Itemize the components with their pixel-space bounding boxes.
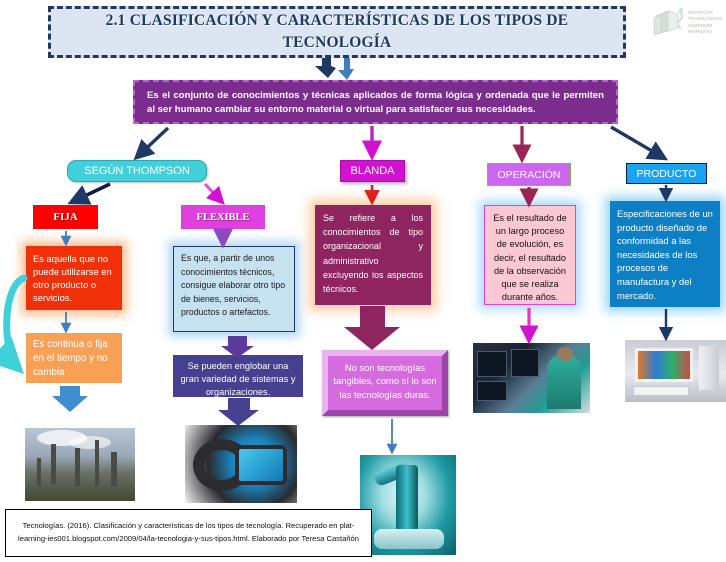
connector-englobar-block-arrow — [218, 398, 259, 426]
connector-cyan-curve — [7, 278, 24, 368]
box-flexible-description: Es que, a partir de unos conocimientos t… — [173, 246, 295, 332]
hospital-control-room-photo — [473, 343, 590, 413]
microscope-photo — [360, 455, 456, 555]
logo-text: INSTITUTOTECNOLÓGICOSUPERIORIRAPUATO — [688, 10, 723, 36]
instituto-logo: INSTITUTOTECNOLÓGICOSUPERIORIRAPUATO — [652, 4, 722, 44]
footer-citation-box: Tecnologías. (2016). Clasificación y car… — [5, 509, 372, 557]
category-producto-label: PRODUCTO — [637, 168, 697, 180]
subcategory-flexible-label: FLEXIBLE — [196, 212, 249, 223]
box-blanda-note: No son tecnologías tangibles, como sí lo… — [322, 350, 448, 416]
connector-continua-block-arrow — [52, 386, 88, 412]
subcategory-fija-label: FIJA — [53, 211, 77, 223]
connector-thompson-to-fija — [72, 184, 110, 202]
subcategory-fija[interactable]: FIJA — [33, 205, 98, 229]
main-definition-box: Es el conjunto de conocimientos y técnic… — [133, 80, 618, 124]
category-producto[interactable]: PRODUCTO — [626, 163, 707, 184]
category-segun-thompson-label: SEGÚN THOMPSON — [84, 165, 190, 177]
diagram-canvas: 2.1 CLASIFICACIÓN Y CARACTERÍSTICAS DE L… — [0, 0, 726, 562]
category-segun-thompson[interactable]: SEGÚN THOMPSON — [67, 160, 207, 182]
page-title: 2.1 CLASIFICACIÓN Y CARACTERÍSTICAS DE L… — [51, 10, 623, 55]
title-down-arrow-dark — [315, 58, 336, 78]
connector-blanda-block-arrow — [344, 306, 400, 350]
logo-book-icon — [652, 4, 686, 38]
smartwatch-photo — [185, 425, 297, 503]
category-operacion-label: OPERACIÓN — [497, 169, 560, 181]
category-operacion[interactable]: OPERACIÓN — [487, 163, 571, 186]
box-fija-continua: Es continua o fija en el tiempo y no cam… — [26, 333, 122, 383]
footer-citation-text: Tecnologías. (2016). Clasificación y car… — [12, 520, 365, 545]
box-operacion-description: Es el resultado de un largo proceso de e… — [484, 205, 576, 305]
title-down-arrow-light — [338, 58, 354, 80]
factory-smokestacks-photo — [25, 428, 135, 501]
desktop-computer-photo — [625, 340, 726, 402]
category-blanda[interactable]: BLANDA — [340, 160, 405, 182]
connector-main-to-thompson — [137, 128, 168, 157]
box-producto-description: Especificaciones de un producto diseñado… — [610, 201, 720, 307]
title-banner: 2.1 CLASIFICACIÓN Y CARACTERÍSTICAS DE L… — [48, 6, 626, 58]
category-blanda-label: BLANDA — [350, 165, 394, 177]
connector-thompson-to-flexible — [205, 184, 222, 202]
box-englobar-sistemas: Se pueden englobar una gran variedad de … — [173, 355, 303, 397]
subcategory-flexible[interactable]: FLEXIBLE — [181, 205, 265, 229]
connector-main-to-producto — [611, 127, 664, 158]
box-fija-description: Es aquella que no puede utilizarse en ot… — [26, 246, 122, 310]
box-blanda-description: Se refiere a los conocimientos de tipo o… — [315, 205, 431, 305]
